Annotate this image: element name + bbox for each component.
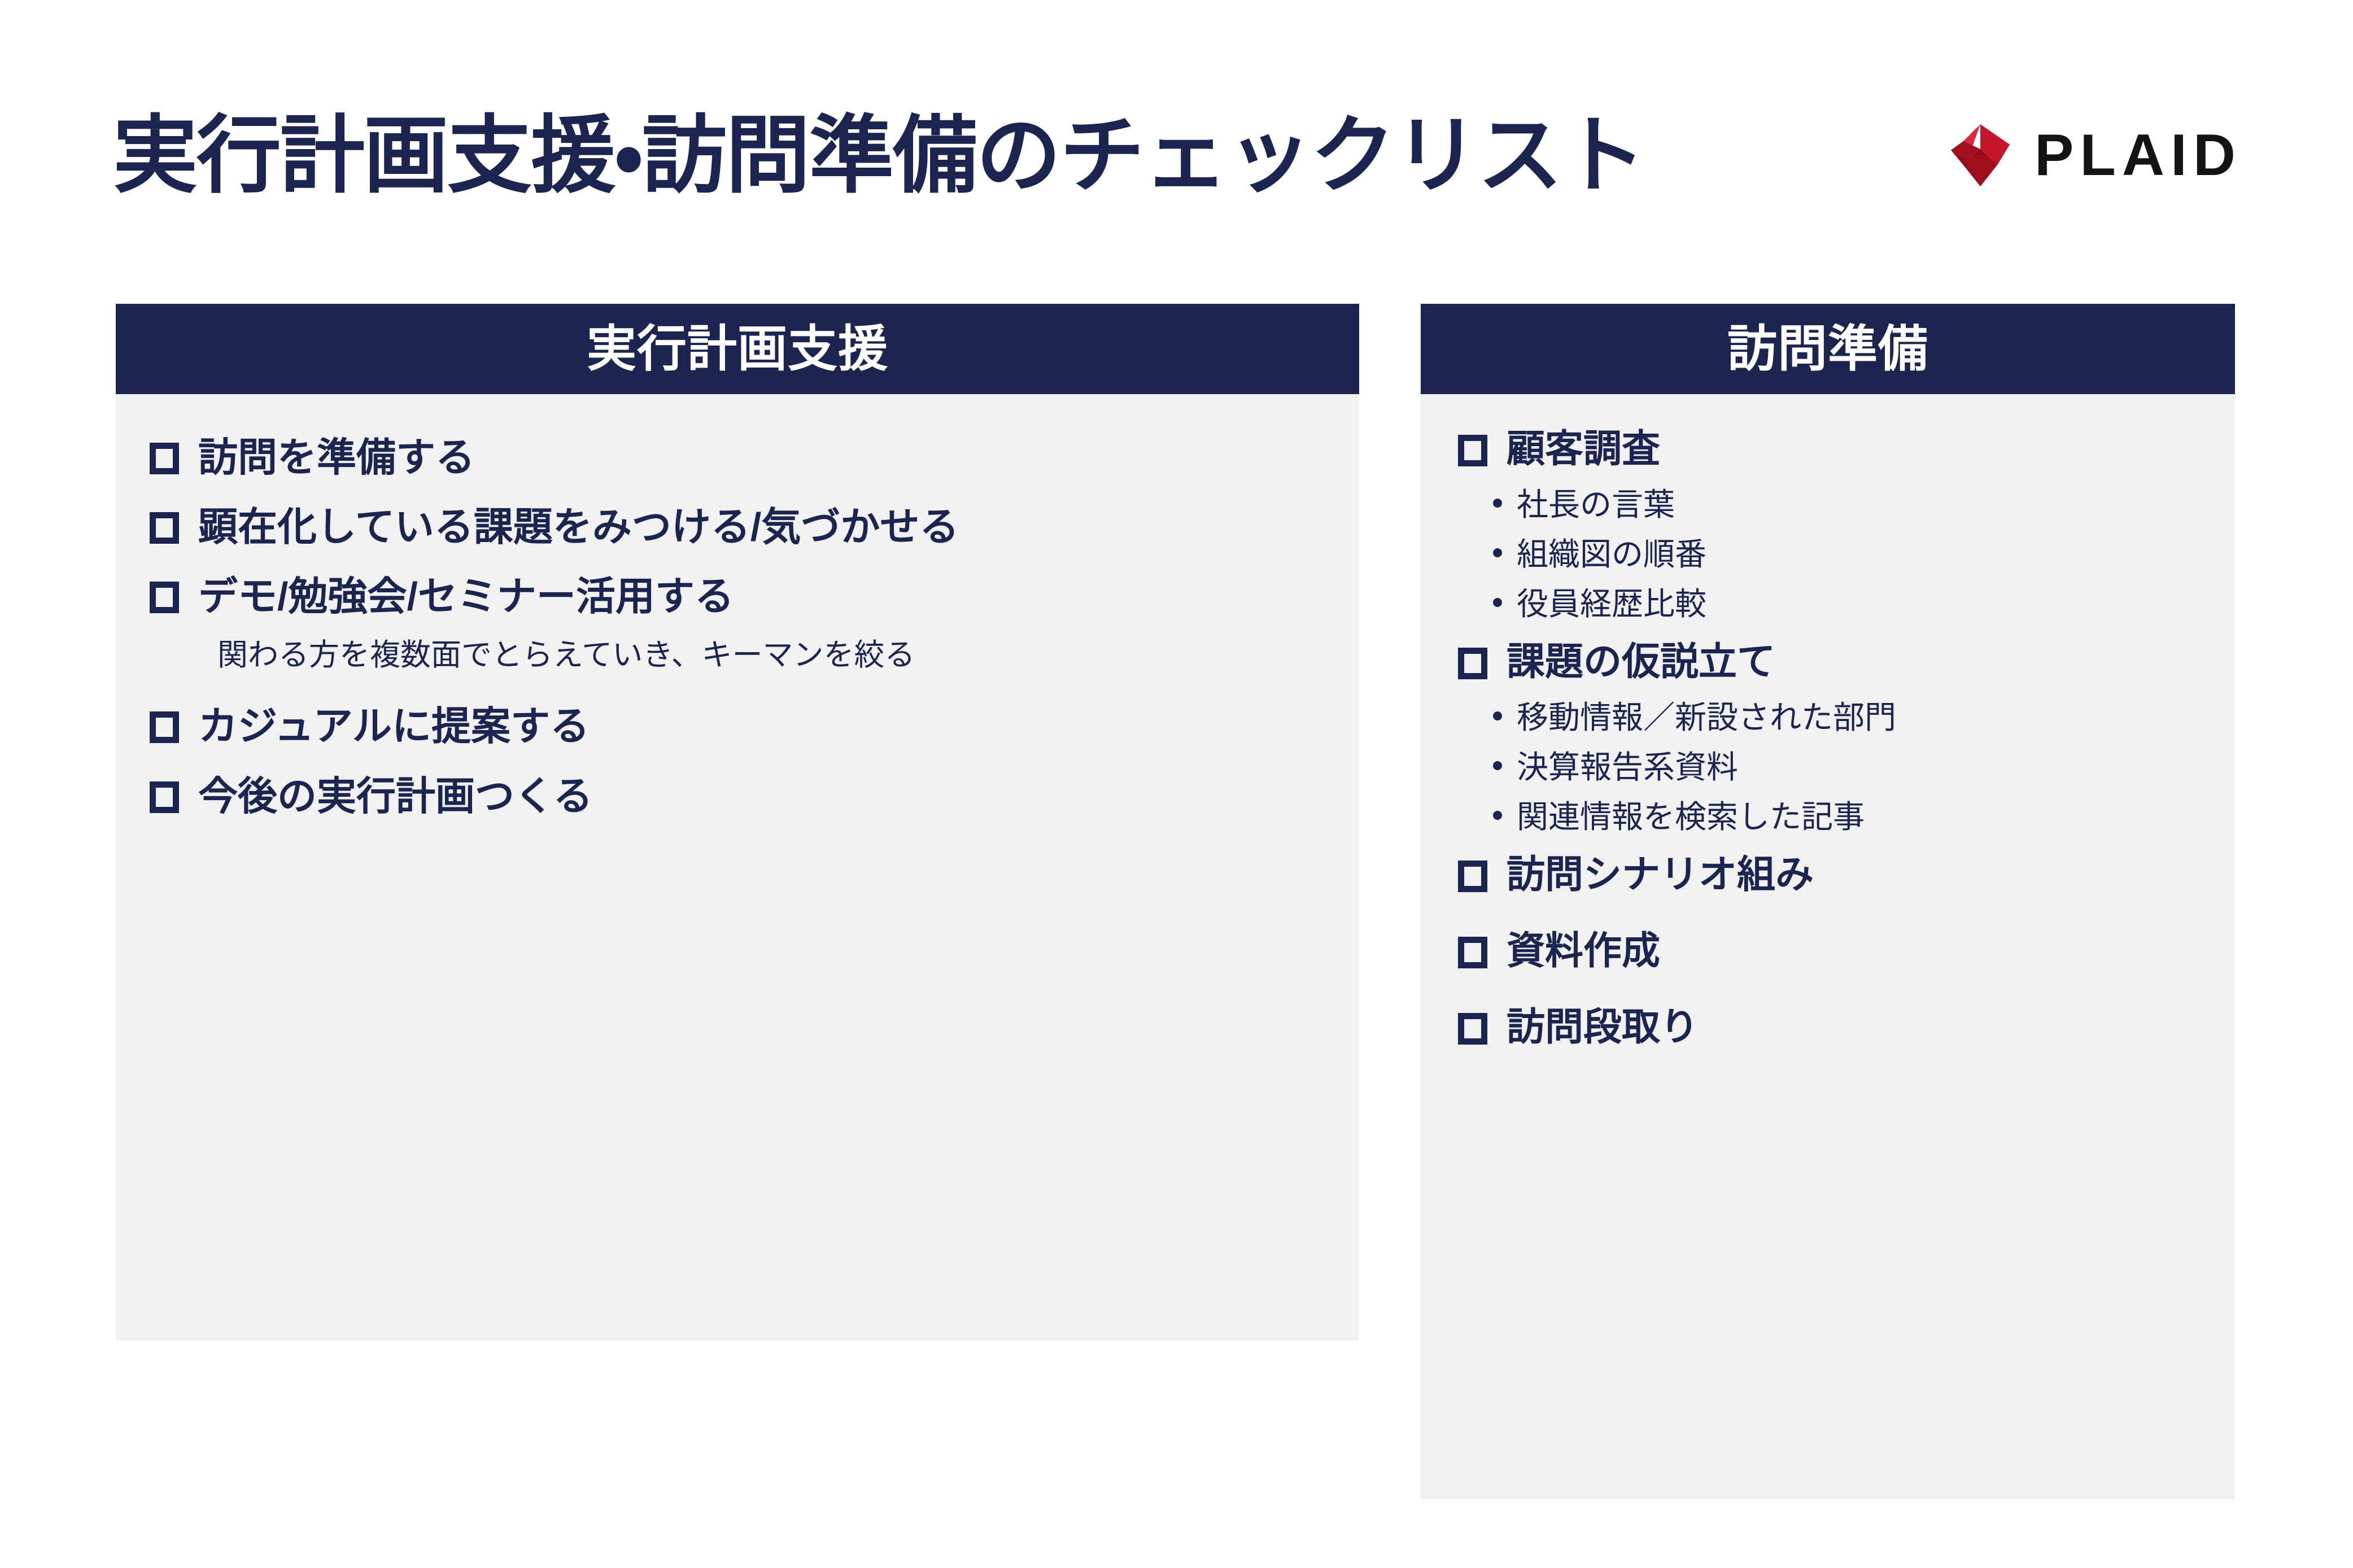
check-item-label: 課題の仮説立て bbox=[1507, 640, 1775, 684]
checkbox-icon[interactable] bbox=[1458, 1013, 1487, 1045]
panel-execution-plan-support: 実行計画支援 訪問を準備する 顕在化している課題をみつける/気づかせる デモ/勉… bbox=[116, 304, 1359, 1340]
list-item: 組織図の順番 bbox=[1493, 536, 2207, 573]
checkbox-icon[interactable] bbox=[150, 443, 179, 474]
check-group: 訪問段取り bbox=[1458, 1005, 2207, 1050]
bullet-dot-icon bbox=[1493, 598, 1502, 607]
checkbox-icon[interactable] bbox=[150, 711, 179, 743]
check-group: 訪問シナリオ組み bbox=[1458, 853, 2207, 897]
sub-item-label: 組織図の順番 bbox=[1517, 536, 1706, 573]
check-item[interactable]: 訪問シナリオ組み bbox=[1458, 853, 2207, 897]
list-item: 役員経歴比較 bbox=[1493, 586, 2207, 623]
list-item: 社長の言葉 bbox=[1493, 486, 2207, 523]
panel-body-visit-preparation: 顧客調査 社長の言葉 組織図の順番 役員経歴比較 bbox=[1421, 394, 2235, 1104]
check-item-note: 関わる方を複数面でとらえていき、キーマンを絞る bbox=[217, 637, 1325, 674]
sub-item-label: 移動情報／新設された部門 bbox=[1517, 699, 1896, 736]
check-group: 資料作成 bbox=[1458, 929, 2207, 973]
checkbox-icon[interactable] bbox=[1458, 648, 1487, 679]
sub-item-list: 移動情報／新設された部門 決算報告系資料 関連情報を検索した記事 bbox=[1493, 699, 2207, 836]
panel-header-visit-preparation: 訪問準備 bbox=[1421, 304, 2235, 394]
bullet-dot-icon bbox=[1493, 811, 1502, 820]
check-item-label: 顧客調査 bbox=[1507, 427, 1660, 471]
sub-item-label: 役員経歴比較 bbox=[1517, 586, 1706, 623]
checkbox-icon[interactable] bbox=[150, 781, 179, 813]
check-item-label: 訪問シナリオ組み bbox=[1507, 853, 1814, 897]
check-item-label: 今後の実行計画つくる bbox=[198, 774, 593, 819]
check-item-label: 訪問段取り bbox=[1507, 1005, 1699, 1050]
sub-item-label: 社長の言葉 bbox=[1517, 486, 1675, 523]
check-group: 課題の仮説立て 移動情報／新設された部門 決算報告系資料 bbox=[1458, 640, 2207, 836]
check-item-label: 訪問を準備する bbox=[198, 435, 475, 481]
panel-header-execution-plan-support: 実行計画支援 bbox=[116, 304, 1359, 394]
checkbox-icon[interactable] bbox=[150, 512, 179, 544]
list-item: 関連情報を検索した記事 bbox=[1493, 798, 2207, 836]
list-item: 決算報告系資料 bbox=[1493, 749, 2207, 786]
check-item-label: カジュアルに提案する bbox=[198, 704, 590, 749]
checkbox-icon[interactable] bbox=[150, 582, 179, 613]
check-item[interactable]: 顧客調査 bbox=[1458, 427, 2207, 471]
panel-visit-preparation: 訪問準備 顧客調査 社長の言葉 bbox=[1421, 304, 2235, 1499]
sub-item-label: 関連情報を検索した記事 bbox=[1517, 798, 1865, 836]
check-item[interactable]: 課題の仮説立て bbox=[1458, 640, 2207, 684]
slide-root: 実行計画支援・訪問準備のチェックリスト PLAID 実行計画支援 bbox=[0, 0, 2353, 1568]
check-item[interactable]: 今後の実行計画つくる bbox=[150, 774, 1325, 819]
bullet-dot-icon bbox=[1493, 711, 1502, 720]
bullet-dot-icon bbox=[1493, 499, 1502, 508]
sub-item-label: 決算報告系資料 bbox=[1517, 749, 1738, 786]
checkbox-icon[interactable] bbox=[1458, 435, 1487, 466]
check-item[interactable]: 顕在化している課題をみつける/気づかせる bbox=[150, 504, 1325, 550]
bullet-dot-icon bbox=[1493, 548, 1502, 557]
check-item[interactable]: 訪問段取り bbox=[1458, 1005, 2207, 1050]
panels-container: 実行計画支援 訪問を準備する 顕在化している課題をみつける/気づかせる デモ/勉… bbox=[0, 0, 2353, 1568]
check-group: 顧客調査 社長の言葉 組織図の順番 役員経歴比較 bbox=[1458, 427, 2207, 623]
panel-body-execution-plan-support: 訪問を準備する 顕在化している課題をみつける/気づかせる デモ/勉強会/セミナー… bbox=[116, 394, 1359, 866]
check-item[interactable]: デモ/勉強会/セミナー活用する bbox=[150, 574, 1325, 619]
check-item[interactable]: 資料作成 bbox=[1458, 929, 2207, 973]
check-item[interactable]: カジュアルに提案する bbox=[150, 704, 1325, 749]
check-item-label: 顕在化している課題をみつける/気づかせる bbox=[198, 504, 959, 550]
sub-item-list: 社長の言葉 組織図の順番 役員経歴比較 bbox=[1493, 486, 2207, 623]
checkbox-icon[interactable] bbox=[1458, 937, 1487, 968]
panel-header-title: 実行計画支援 bbox=[587, 324, 888, 374]
check-item[interactable]: 訪問を準備する bbox=[150, 435, 1325, 481]
bullet-dot-icon bbox=[1493, 761, 1502, 770]
check-item-label: 資料作成 bbox=[1507, 929, 1660, 973]
checkbox-icon[interactable] bbox=[1458, 861, 1487, 892]
panel-header-title: 訪問準備 bbox=[1727, 324, 1928, 374]
check-item-label: デモ/勉強会/セミナー活用する bbox=[198, 574, 734, 619]
list-item: 移動情報／新設された部門 bbox=[1493, 699, 2207, 736]
